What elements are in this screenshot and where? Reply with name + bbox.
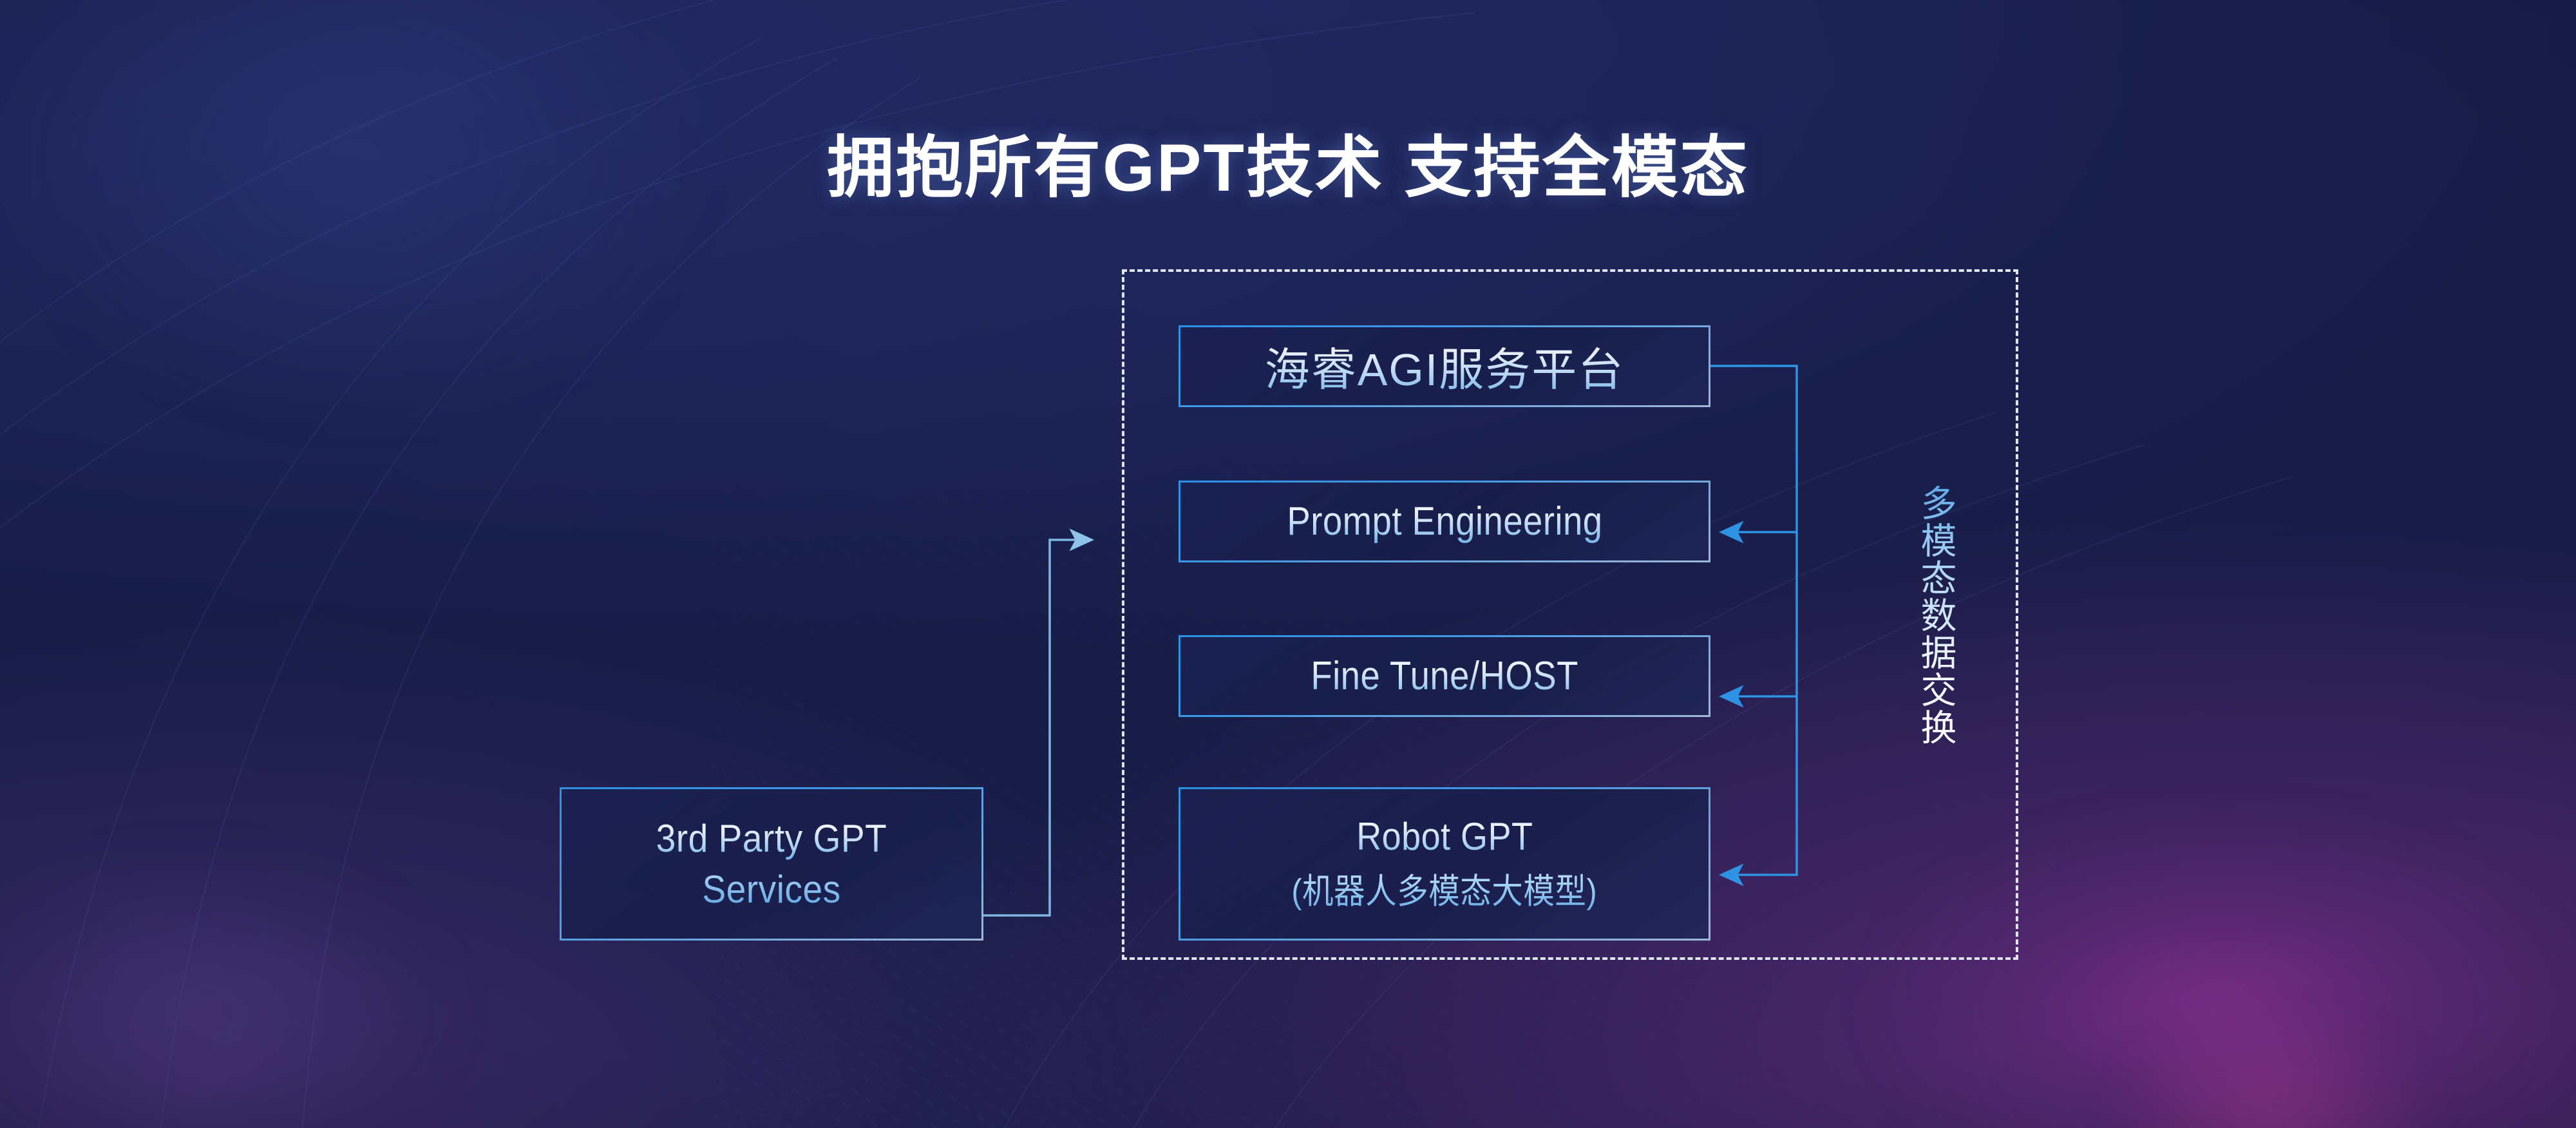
node-fine-tune-host-label: Fine Tune/HOST [1311, 653, 1578, 699]
node-robot-gpt[interactable]: Robot GPT (机器人多模态大模型) [1179, 787, 1710, 941]
connector-third-party-to-zone [983, 540, 1090, 915]
node-third-party-gpt-label: 3rd Party GPT [656, 816, 887, 861]
node-prompt-engineering-label: Prompt Engineering [1287, 499, 1602, 544]
connector-layer [0, 0, 2576, 1128]
node-third-party-gpt-sublabel: Services [702, 867, 840, 912]
connector-data-bus [1710, 366, 1797, 875]
node-third-party-gpt[interactable]: 3rd Party GPT Services [560, 787, 983, 941]
node-fine-tune-host[interactable]: Fine Tune/HOST [1179, 635, 1710, 717]
data-exchange-vertical-label: 多模态数据交换 [1910, 484, 1956, 746]
node-robot-gpt-sublabel: (机器人多模态大模型) [1292, 863, 1598, 913]
node-prompt-engineering[interactable]: Prompt Engineering [1179, 481, 1710, 562]
slide-canvas: 拥抱所有GPT技术 支持全模态 海睿AGI服务平台 Prompt Enginee… [0, 0, 2576, 1128]
node-agi-platform-label: 海睿AGI服务平台 [1265, 334, 1625, 399]
node-robot-gpt-label: Robot GPT [1356, 814, 1533, 859]
node-agi-platform[interactable]: 海睿AGI服务平台 [1179, 325, 1710, 407]
